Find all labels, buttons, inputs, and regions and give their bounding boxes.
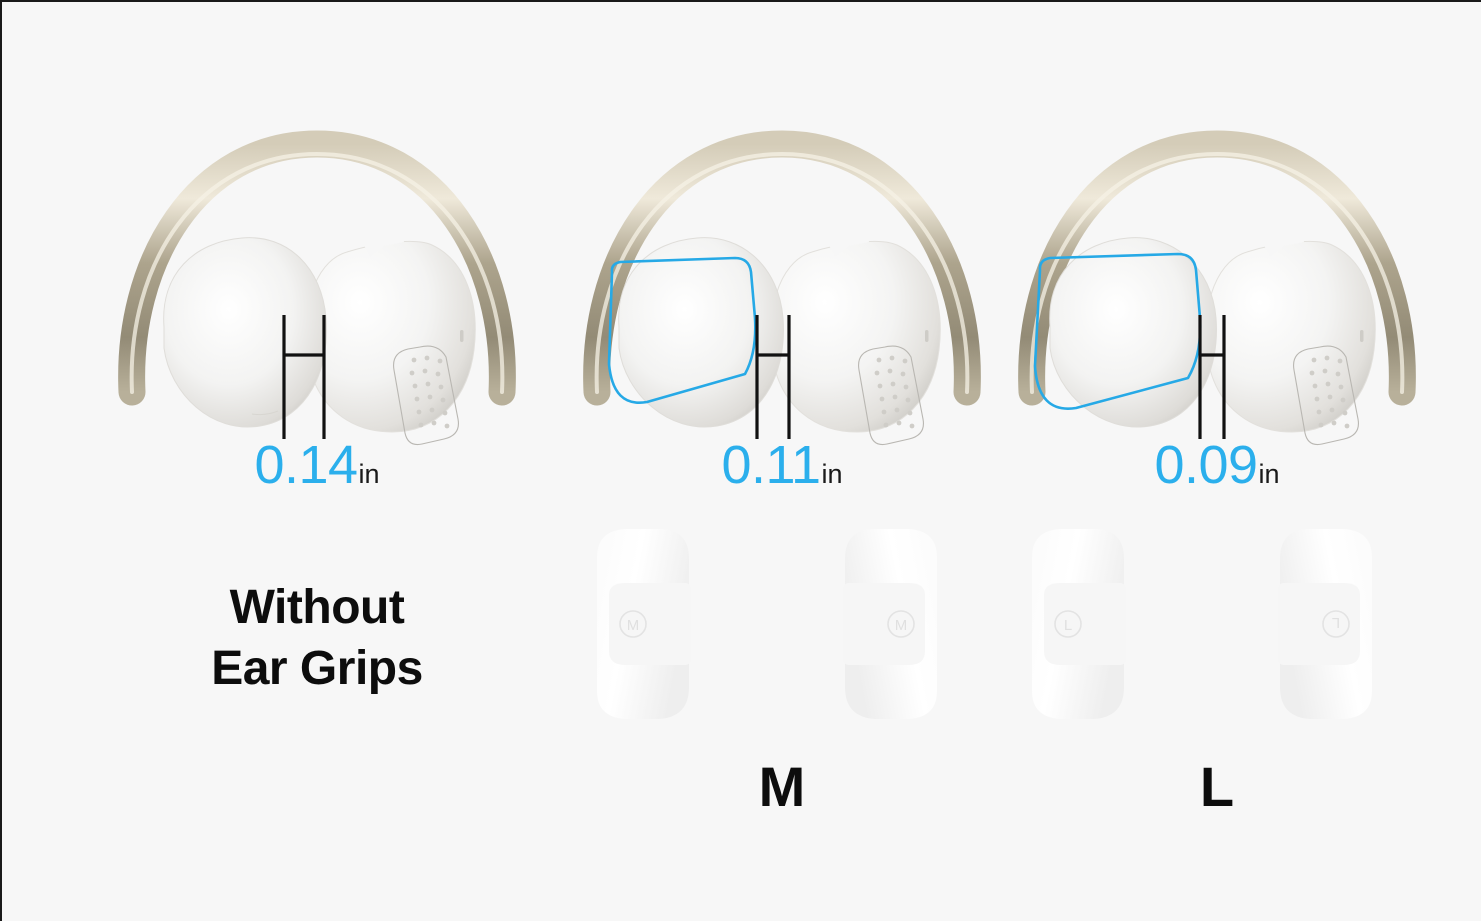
ear-grips-illustration-large: L L: [1002, 517, 1432, 737]
grip-size-mark: L: [1332, 614, 1340, 631]
headphones-illustration-2: [567, 102, 997, 442]
grip-size-mark: M: [627, 617, 640, 634]
ear-grip-icon-right: M: [843, 529, 937, 719]
left-earcup: [1050, 238, 1217, 427]
measurement-label-1: 0.14in: [102, 434, 532, 496]
grip-size-mark: M: [895, 617, 908, 634]
button-slot: [925, 330, 929, 342]
diagram-canvas: 0.14in Without Ear Grips: [0, 0, 1481, 921]
button-slot: [1360, 330, 1364, 342]
column-without-ear-grips: 0.14in Without Ear Grips: [102, 2, 532, 921]
ear-grip-pair: L L: [1002, 517, 1432, 737]
right-earcup: [306, 241, 476, 432]
headphones-icon: [1002, 102, 1432, 442]
ear-grip-icon-left: L: [1032, 529, 1126, 719]
measurement-unit: in: [359, 459, 380, 489]
left-earcup: [164, 238, 327, 427]
size-label-large: L: [1002, 754, 1432, 819]
headphones-icon: [102, 102, 532, 442]
size-label-medium: M: [567, 754, 997, 819]
button-slot: [460, 330, 464, 342]
measurement-value: 0.11: [721, 435, 820, 495]
headphones-icon: [567, 102, 997, 442]
measurement-label-3: 0.09in: [1002, 434, 1432, 496]
right-earcup: [771, 241, 941, 432]
ear-grip-icon-right: L: [1278, 529, 1372, 719]
measurement-value: 0.09: [1154, 435, 1257, 495]
ear-grip-icon-left: M: [597, 529, 691, 719]
grip-size-mark: L: [1064, 617, 1072, 634]
column-large-ear-grips: 0.09in: [1002, 2, 1432, 921]
caption-line-2: Ear Grips: [102, 638, 532, 699]
ear-grip-pair: M M: [567, 517, 997, 737]
headphones-illustration-3: [1002, 102, 1432, 442]
measurement-label-2: 0.11in: [567, 434, 997, 496]
headphones-illustration-1: [102, 102, 532, 442]
measurement-unit: in: [1259, 459, 1280, 489]
column-medium-ear-grips: 0.11in: [567, 2, 997, 921]
caption-line-1: Without: [102, 577, 532, 638]
ear-grips-illustration-medium: M M: [567, 517, 997, 737]
measurement-value: 0.14: [254, 435, 357, 495]
left-earcup: [619, 238, 784, 427]
measurement-unit: in: [822, 459, 843, 489]
right-earcup: [1206, 241, 1376, 432]
caption-without-ear-grips: Without Ear Grips: [102, 577, 532, 700]
